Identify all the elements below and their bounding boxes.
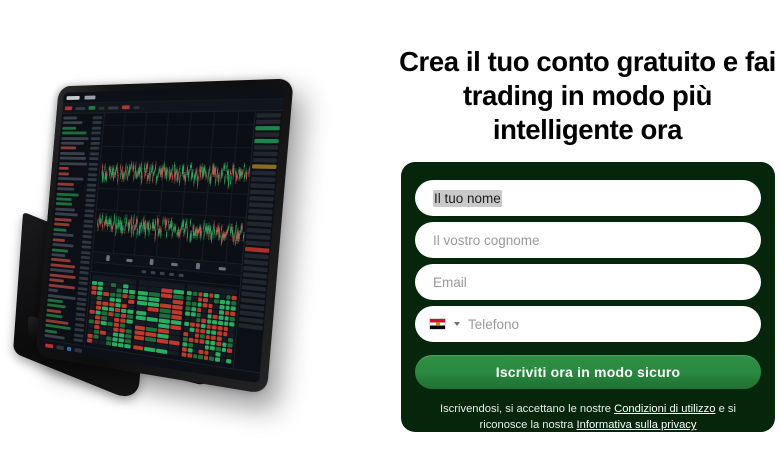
platform-workspace — [43, 111, 283, 372]
data-cell — [88, 329, 94, 334]
data-cell — [102, 306, 108, 311]
data-cell — [204, 356, 209, 361]
privacy-policy-link[interactable]: Informativa sulla privacy — [577, 419, 697, 431]
data-cell — [231, 301, 236, 306]
price-tick — [255, 126, 280, 130]
signup-column: Crea il tuo conto gratuito e fai trading… — [395, 0, 780, 470]
data-cell — [129, 295, 135, 300]
toolbar-item — [133, 106, 139, 109]
data-cell — [112, 337, 118, 342]
status-item — [56, 345, 64, 350]
watchlist-symbol — [57, 192, 79, 196]
last-name-input[interactable]: Il vostro cognome — [415, 222, 761, 258]
price-tick — [254, 145, 279, 150]
first-name-input[interactable]: Il tuo nome — [415, 180, 761, 216]
data-cell — [185, 316, 190, 321]
data-cell — [96, 310, 102, 315]
depth-panel — [86, 273, 137, 352]
watchlist-symbol — [61, 147, 77, 150]
data-cell — [186, 306, 191, 311]
data-cell — [115, 308, 121, 313]
watchlist-price — [89, 157, 98, 160]
timescale-tick — [151, 271, 156, 274]
data-cell — [193, 354, 198, 359]
data-cell — [116, 288, 122, 293]
data-cell — [107, 322, 113, 327]
watchlist-price — [80, 266, 89, 270]
data-cell — [211, 335, 216, 340]
data-cell — [133, 345, 144, 351]
data-cell — [225, 311, 230, 316]
data-cell — [212, 325, 217, 330]
watchlist-row — [61, 131, 102, 135]
data-cell — [89, 310, 95, 315]
watchlist-price — [92, 126, 102, 129]
watchlist-price — [77, 297, 86, 301]
watchlist-price — [81, 250, 90, 254]
data-cell — [210, 346, 215, 351]
status-alert-icon — [45, 343, 53, 348]
data-cell — [108, 317, 114, 322]
data-cell — [187, 353, 192, 358]
price-tick — [250, 190, 275, 195]
watchlist-symbol — [54, 218, 71, 222]
indicator-icon — [218, 266, 225, 270]
price-tick — [249, 202, 274, 207]
watchlist-symbol — [51, 253, 65, 257]
watchlist-symbol — [57, 182, 73, 185]
price-tick — [253, 158, 278, 163]
timescale-tick — [169, 273, 174, 276]
data-cell — [95, 315, 101, 320]
data-cell — [203, 298, 208, 303]
data-cell — [168, 350, 179, 356]
data-cell — [123, 284, 129, 289]
positions-panel — [132, 278, 187, 359]
data-cell — [222, 337, 227, 342]
data-cell — [197, 308, 202, 313]
watchlist-price — [85, 209, 94, 212]
watchlist-row — [62, 121, 103, 125]
data-cell — [119, 328, 125, 333]
tablet-device — [8, 70, 338, 400]
price-tick — [245, 240, 270, 246]
data-cell — [195, 323, 200, 328]
data-cell — [130, 285, 136, 290]
watchlist-symbol — [55, 213, 78, 217]
data-cell — [207, 319, 212, 324]
indicator-icon — [171, 262, 178, 266]
egypt-flag-icon[interactable] — [429, 318, 446, 330]
data-cell — [126, 324, 132, 329]
data-cell — [189, 327, 194, 332]
watchlist-price — [85, 204, 94, 207]
data-cell — [231, 306, 236, 311]
data-cell — [92, 281, 98, 285]
data-cell — [196, 313, 201, 318]
data-cell — [220, 300, 225, 305]
price-tick — [254, 139, 279, 143]
data-cell — [199, 339, 204, 344]
data-cell — [91, 290, 97, 294]
email-placeholder: Email — [433, 275, 467, 290]
data-cell — [119, 333, 125, 338]
data-cell — [109, 297, 115, 302]
data-cell — [192, 291, 197, 296]
data-cell — [208, 304, 213, 309]
data-cell — [121, 309, 127, 314]
data-cell — [199, 350, 204, 355]
data-cell — [128, 300, 134, 305]
data-cell — [115, 303, 121, 308]
data-cell — [89, 319, 95, 324]
data-cell — [129, 290, 135, 295]
data-cell — [125, 344, 131, 349]
legal-text-part1: Iscrivendosi, si accettano le nostre — [440, 403, 614, 415]
toolbar-record-icon — [65, 106, 73, 110]
watchlist-symbol — [53, 238, 65, 242]
data-cell — [122, 294, 128, 299]
data-cell — [205, 340, 210, 345]
candlestick-wick — [160, 228, 162, 239]
data-cell — [187, 296, 192, 301]
phone-placeholder: Telefono — [468, 317, 519, 332]
watchlist-symbol — [52, 248, 68, 252]
data-cell — [230, 311, 235, 316]
data-cell — [144, 347, 155, 353]
watchlist-symbol — [62, 132, 87, 135]
watchlist-symbol — [56, 202, 72, 206]
data-cell — [197, 297, 202, 302]
price-tick — [241, 291, 266, 298]
data-cell — [121, 304, 127, 309]
watchlist-price — [93, 116, 103, 119]
candlestick-wick — [165, 229, 167, 240]
watchlist-price — [78, 282, 87, 286]
indicator-icon — [126, 258, 132, 261]
watchlist-price — [81, 256, 90, 260]
toolbar-sell-icon — [122, 105, 130, 109]
price-tick — [242, 285, 267, 292]
watchlist-price — [82, 245, 91, 249]
data-cell — [220, 294, 225, 299]
watchlist-price — [91, 132, 101, 135]
price-tick — [246, 234, 271, 240]
data-cell — [103, 292, 109, 296]
platform-title-text — [84, 95, 95, 99]
watchlist-price — [82, 240, 91, 244]
watchlist-price — [78, 287, 87, 291]
data-cell — [116, 293, 122, 298]
watchlist-row — [60, 146, 101, 151]
data-cell — [120, 323, 126, 328]
watchlist-price — [86, 199, 95, 202]
data-cell — [100, 335, 106, 340]
data-cell — [104, 282, 110, 286]
data-cell — [184, 322, 189, 327]
data-cell — [88, 324, 94, 329]
data-cell — [196, 318, 201, 323]
price-tick — [255, 133, 280, 137]
data-cell — [126, 329, 132, 334]
phone-input[interactable]: Telefono — [415, 306, 761, 342]
watchlist-symbol — [59, 162, 87, 165]
data-cell — [192, 297, 197, 302]
data-cell — [107, 326, 113, 331]
watchlist-price — [79, 271, 88, 275]
data-cell — [96, 301, 102, 306]
data-cell — [223, 332, 228, 337]
data-cell — [217, 331, 222, 336]
data-cell — [215, 294, 220, 299]
data-cell — [103, 297, 109, 302]
data-cell — [195, 328, 200, 333]
data-cell — [123, 289, 129, 294]
data-cell — [118, 343, 124, 348]
data-cell — [197, 302, 202, 307]
watchlist-symbol — [58, 172, 69, 175]
price-tick — [247, 221, 272, 227]
data-cell — [182, 347, 187, 352]
data-cell — [227, 354, 232, 359]
data-cell — [128, 304, 134, 309]
data-cell — [116, 298, 122, 303]
price-tick — [245, 247, 270, 253]
data-cell — [221, 348, 226, 353]
watchlist-symbol — [55, 208, 75, 212]
watchlist-symbol — [63, 121, 83, 124]
page-title: Crea il tuo conto gratuito e fai trading… — [395, 45, 780, 147]
data-cell — [223, 327, 228, 332]
data-cell — [97, 296, 103, 300]
watchlist-symbol — [61, 142, 84, 145]
price-tick — [249, 196, 274, 201]
data-cell — [121, 314, 127, 319]
data-cell — [209, 298, 214, 303]
data-cell — [188, 338, 193, 343]
tablet-screen — [42, 86, 285, 383]
data-cell — [191, 312, 196, 317]
data-cell — [229, 322, 234, 327]
candlestick-chart — [93, 111, 255, 263]
data-cell — [103, 301, 109, 306]
watchlist-price — [84, 219, 93, 222]
data-cell — [94, 330, 100, 335]
data-cell — [219, 305, 224, 310]
data-cell — [110, 288, 116, 292]
data-cell — [98, 281, 104, 285]
watchlist-price — [78, 292, 87, 296]
submit-button[interactable]: Iscriviti ora in modo sicuro — [415, 355, 761, 389]
data-cell — [192, 302, 197, 307]
data-cell — [221, 358, 226, 363]
data-cell — [218, 315, 223, 320]
data-cell — [90, 305, 96, 309]
data-cell — [91, 295, 97, 299]
watchlist-price — [89, 163, 98, 166]
signup-form-card: Il tuo nome Il vostro cognome Email Tele… — [401, 162, 775, 432]
data-cell — [198, 355, 203, 360]
watchlist-price — [88, 168, 97, 171]
data-cell — [127, 314, 133, 319]
data-cell — [206, 330, 211, 335]
data-cell — [204, 350, 209, 355]
data-cell — [113, 332, 119, 337]
watchlist-price — [77, 302, 86, 306]
data-cell — [96, 306, 102, 311]
data-cell — [156, 348, 167, 354]
data-cell — [108, 307, 114, 312]
data-cell — [184, 327, 189, 332]
watchlist-price — [83, 225, 92, 228]
data-cell — [188, 348, 193, 353]
watchlist-price — [80, 261, 89, 265]
data-cell — [113, 322, 119, 327]
watchlist-price — [87, 183, 96, 186]
data-cell — [120, 318, 126, 323]
orders-panel — [181, 283, 239, 367]
data-cell — [205, 345, 210, 350]
signup-landing-page: Crea il tuo conto gratuito e fai trading… — [0, 0, 780, 470]
timescale-tick — [179, 274, 184, 278]
data-cell — [228, 338, 233, 343]
first-name-value: Il tuo nome — [433, 190, 502, 207]
watchlist-row — [61, 126, 102, 130]
data-cell — [202, 313, 207, 318]
data-cell — [216, 341, 221, 346]
watchlist-price — [90, 142, 100, 145]
price-tick — [247, 228, 272, 234]
watchlist-row — [61, 136, 102, 140]
data-cell — [87, 338, 93, 343]
chevron-down-icon[interactable] — [454, 322, 460, 326]
data-cell — [93, 334, 99, 339]
data-cell — [226, 359, 231, 364]
watchlist-price — [76, 307, 85, 311]
data-cell — [127, 309, 133, 314]
price-tick — [244, 253, 269, 259]
data-cell — [229, 327, 234, 332]
watchlist-symbol — [54, 223, 70, 227]
data-cell — [201, 324, 206, 329]
data-cell — [214, 299, 219, 304]
data-cell — [219, 310, 224, 315]
data-cell — [222, 342, 227, 347]
data-cell — [183, 337, 188, 342]
indicator-icon — [106, 255, 110, 261]
data-cell — [109, 302, 115, 307]
data-cell — [209, 356, 214, 361]
watchlist-symbol — [60, 157, 86, 160]
data-cell — [203, 303, 208, 308]
data-cell — [110, 283, 116, 287]
data-cell — [91, 286, 97, 290]
price-tick — [256, 113, 281, 118]
data-cell — [114, 313, 120, 318]
watchlist-price — [79, 276, 88, 280]
data-cell — [226, 300, 231, 305]
data-cell — [101, 316, 107, 321]
watchlist-price — [82, 235, 91, 239]
price-tick — [252, 164, 277, 169]
data-cell — [102, 311, 108, 316]
watchlist-symbol — [62, 127, 76, 130]
data-cell — [188, 343, 193, 348]
email-input[interactable]: Email — [415, 264, 761, 300]
price-tick — [253, 152, 278, 157]
data-cell — [113, 327, 119, 332]
data-cell — [211, 330, 216, 335]
data-cell — [228, 343, 233, 348]
data-cell — [224, 321, 229, 326]
last-name-placeholder: Il vostro cognome — [433, 233, 540, 248]
candlestick-wick — [242, 224, 244, 233]
data-cell — [182, 352, 187, 357]
data-cell — [203, 293, 208, 298]
hero-image — [0, 70, 350, 400]
toolbar-buy-icon — [88, 106, 95, 110]
watchlist-symbol — [59, 167, 69, 170]
watchlist-symbol — [54, 228, 67, 232]
data-cell — [89, 314, 95, 319]
price-tick — [256, 120, 281, 124]
data-cell — [87, 333, 93, 338]
candlestick-wick — [189, 218, 191, 227]
data-cell — [183, 342, 188, 347]
data-cell — [98, 286, 104, 290]
data-cell — [125, 334, 131, 339]
data-cell — [193, 349, 198, 354]
data-cell — [206, 324, 211, 329]
data-cell — [108, 312, 114, 317]
data-cell — [212, 320, 217, 325]
watchlist-row — [60, 141, 101, 146]
price-tick — [243, 272, 268, 278]
data-cell — [122, 299, 128, 304]
toolbar-item — [75, 107, 85, 110]
data-cell — [190, 322, 195, 327]
price-tick — [244, 260, 269, 266]
price-tick — [243, 266, 268, 272]
price-tick — [251, 177, 276, 182]
watchlist-price — [76, 313, 85, 317]
data-cell — [218, 326, 223, 331]
data-cell — [205, 335, 210, 340]
data-cell — [191, 307, 196, 312]
watchlist-price — [92, 121, 102, 124]
data-cell — [106, 336, 112, 341]
watchlist-price — [73, 338, 82, 342]
data-cell — [211, 341, 216, 346]
data-cell — [209, 293, 214, 298]
data-cell — [190, 317, 195, 322]
price-tick — [251, 171, 276, 176]
terms-of-use-link[interactable]: Condizioni di utilizzo — [614, 403, 715, 415]
data-cell — [186, 301, 191, 306]
data-cell — [187, 291, 192, 296]
data-cell — [215, 357, 220, 362]
data-cell — [101, 321, 107, 326]
data-cell — [214, 304, 219, 309]
candlestick-wick — [154, 228, 156, 242]
watchlist-symbol — [63, 116, 77, 119]
toolbar-item — [108, 106, 119, 109]
data-cell — [225, 306, 230, 311]
data-cell — [213, 315, 218, 320]
data-cell — [210, 351, 215, 356]
data-cell — [227, 348, 232, 353]
data-cell — [119, 338, 125, 343]
